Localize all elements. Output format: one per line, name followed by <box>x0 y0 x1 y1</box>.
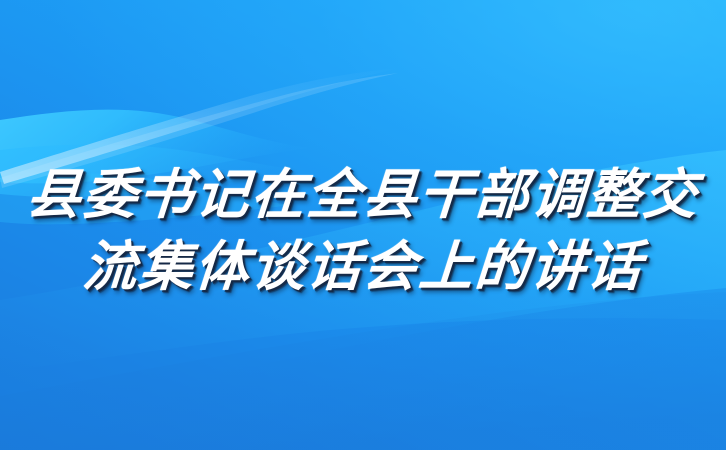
title-line-1: 县委书记在全县干部调整交 <box>0 158 726 230</box>
title-line-2: 流集体谈话会上的讲话 <box>0 230 726 302</box>
banner-title: 县委书记在全县干部调整交 流集体谈话会上的讲话 <box>0 158 726 302</box>
title-banner: 县委书记在全县干部调整交 流集体谈话会上的讲话 <box>0 0 726 450</box>
